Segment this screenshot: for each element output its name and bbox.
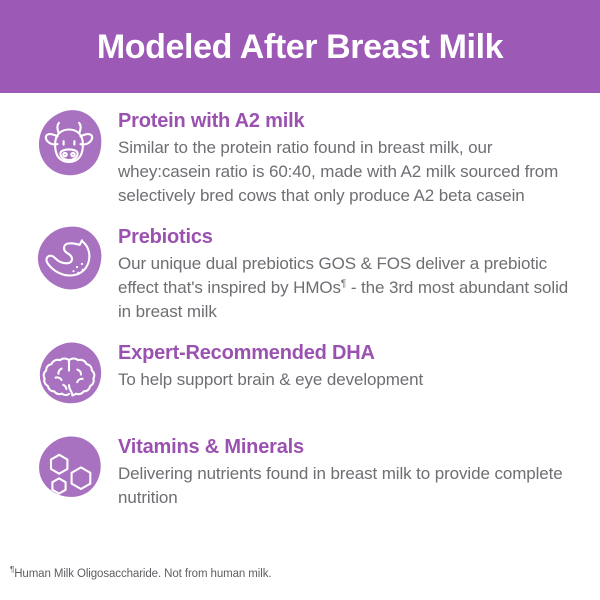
footnote-text: Human Milk Oligosaccharide. Not from hum… (14, 568, 271, 580)
header-band: Modeled After Breast Milk (0, 0, 600, 93)
feature-list: Protein with A2 milk Similar to the prot… (0, 108, 600, 528)
feature-body: To help support brain & eye development (118, 368, 582, 392)
hexagons-icon (30, 434, 108, 512)
feature-title: Expert-Recommended DHA (118, 342, 582, 366)
feature-item-prebiotics: Prebiotics Our unique dual prebiotics GO… (0, 224, 600, 324)
cow-icon (30, 108, 108, 186)
feature-text: Vitamins & Minerals Delivering nutrients… (118, 434, 582, 510)
brain-icon (30, 340, 108, 418)
feature-title: Protein with A2 milk (118, 110, 582, 134)
stomach-icon (30, 224, 108, 302)
feature-text: Protein with A2 milk Similar to the prot… (118, 108, 582, 208)
footnote: ¶Human Milk Oligosaccharide. Not from hu… (10, 567, 570, 582)
feature-text: Prebiotics Our unique dual prebiotics GO… (118, 224, 582, 324)
feature-body: Similar to the protein ratio found in br… (118, 136, 582, 208)
feature-item-vitamins: Vitamins & Minerals Delivering nutrients… (0, 434, 600, 512)
feature-title: Vitamins & Minerals (118, 436, 582, 460)
feature-text: Expert-Recommended DHA To help support b… (118, 340, 582, 392)
feature-item-protein: Protein with A2 milk Similar to the prot… (0, 108, 600, 208)
infographic-page: Modeled After Breast Milk (0, 0, 600, 600)
feature-body: Delivering nutrients found in breast mil… (118, 462, 582, 510)
feature-title: Prebiotics (118, 226, 582, 250)
feature-body: Our unique dual prebiotics GOS & FOS del… (118, 252, 582, 324)
page-title: Modeled After Breast Milk (97, 30, 503, 64)
feature-item-dha: Expert-Recommended DHA To help support b… (0, 340, 600, 418)
